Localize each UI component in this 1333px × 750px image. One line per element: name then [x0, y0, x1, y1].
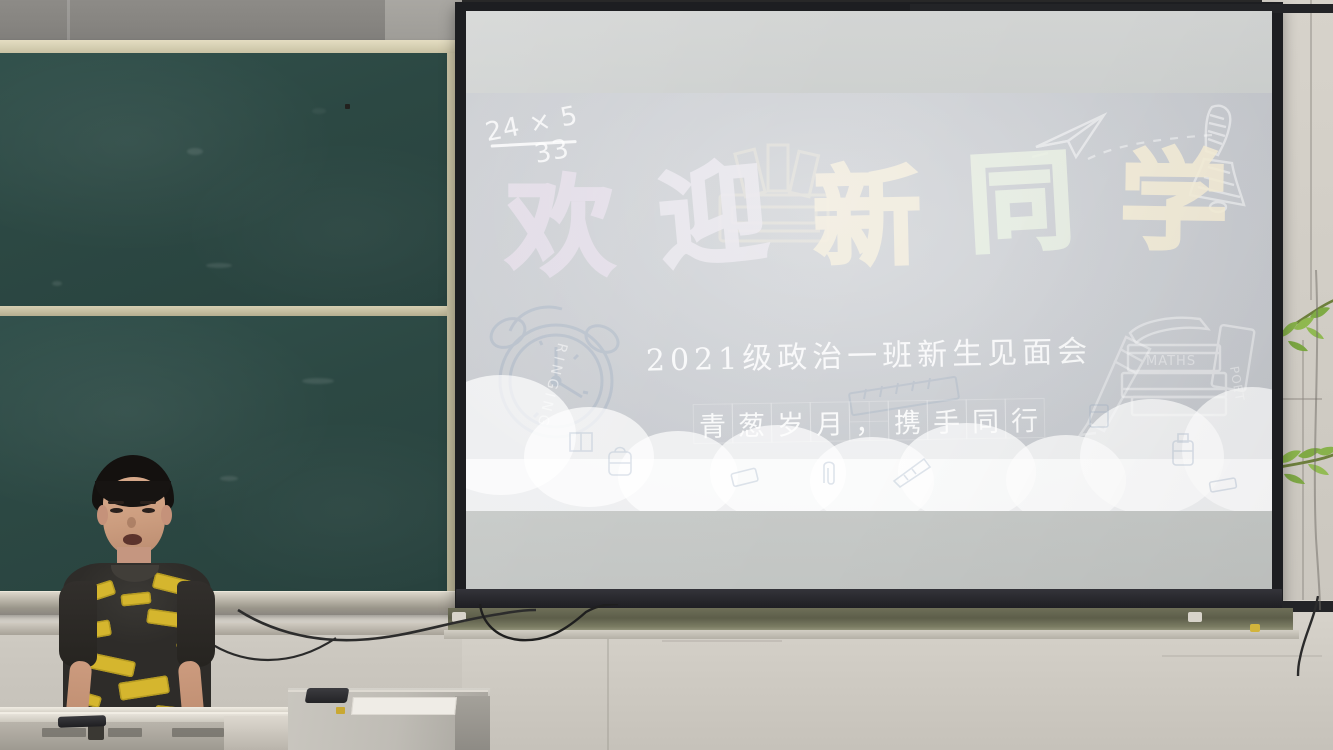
- mobile-phone[interactable]: [305, 688, 350, 703]
- rail-yellow-marker: [1250, 624, 1260, 632]
- title-char-4: 同: [963, 147, 1081, 261]
- wall-seam: [662, 640, 782, 642]
- chalkboard-divider-rail: [0, 306, 447, 316]
- remote-control[interactable]: [58, 715, 106, 728]
- tray-slot: [108, 728, 142, 737]
- podium-sticker: [336, 707, 345, 714]
- chalk-math-denominator: 33: [532, 133, 586, 169]
- eyebrow-right: [140, 501, 156, 504]
- title-char-5: 学: [1119, 148, 1233, 258]
- chalk-smudge: [187, 148, 203, 155]
- tray-slot: [42, 728, 86, 737]
- paper-sheet[interactable]: [351, 697, 457, 715]
- cloud-base: [466, 459, 1272, 511]
- slide-subtitle: 2021级政治一班新生见面会: [466, 323, 1272, 384]
- screen-unlit-top: [466, 11, 1272, 93]
- screen-unlit-bottom: [466, 511, 1272, 589]
- nose: [127, 517, 136, 528]
- projected-slide: MATHS POET 24 × 5 33: [466, 93, 1272, 511]
- rail-endcap-left: [452, 612, 466, 622]
- slide-title: 欢 迎 新 同 学: [466, 144, 1272, 283]
- sleeve-right: [177, 581, 215, 667]
- board-screw: [345, 104, 350, 109]
- title-char-3: 新: [812, 164, 926, 274]
- classroom-scene: MATHS POET 24 × 5 33: [0, 0, 1333, 750]
- eyebrow-left: [108, 501, 124, 504]
- wall-seam: [1162, 655, 1322, 657]
- rail-endcap-right: [1188, 612, 1202, 622]
- shirt-graphic-label: [118, 675, 170, 701]
- mouth: [123, 534, 142, 545]
- title-char-1: 欢: [506, 175, 618, 283]
- chalk-smudge: [312, 108, 326, 114]
- ear-right: [161, 505, 172, 525]
- chalk-smudge: [206, 263, 232, 268]
- eye-left: [110, 508, 123, 513]
- chalkboard-panel-upper: [0, 53, 447, 306]
- title-char-2: 迎: [655, 158, 776, 276]
- cloud-decoration: [466, 381, 1272, 511]
- podium-side-panel: [455, 696, 490, 750]
- chalk-smudge: [302, 378, 334, 384]
- shirt-graphic-label: [120, 591, 151, 606]
- ear-left: [97, 505, 108, 525]
- sleeve-left: [59, 581, 97, 667]
- screen-mount-trim: [444, 630, 1299, 639]
- eye-right: [142, 508, 155, 513]
- chalkboard-frame-top: [0, 40, 462, 53]
- tray-slot: [172, 728, 224, 737]
- chalk-smudge: [52, 281, 62, 286]
- screen-surface[interactable]: MATHS POET 24 × 5 33: [466, 11, 1272, 589]
- presenting-student: [55, 455, 235, 750]
